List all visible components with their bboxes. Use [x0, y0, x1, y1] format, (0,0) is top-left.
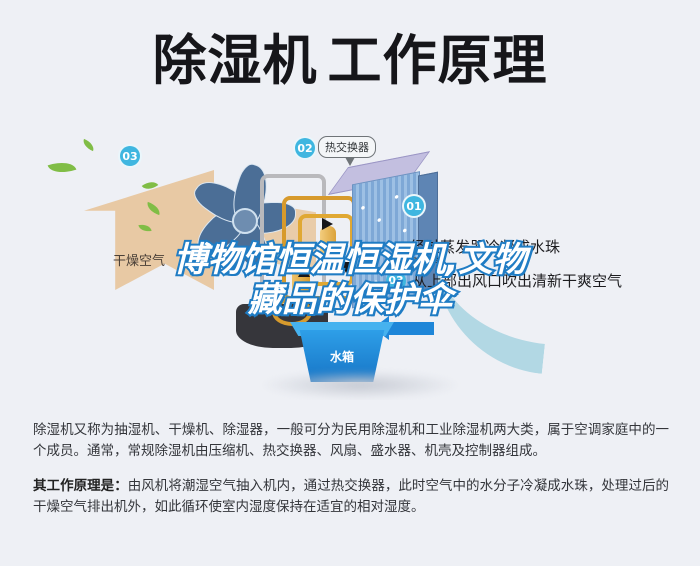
step-badge: 03: [386, 271, 406, 291]
illustration-shadow: [260, 370, 460, 400]
step-list: 02 经过蒸发器冷凝成水珠 03 从上部出风口吹出清新干爽空气: [396, 236, 696, 304]
fan-hub-icon: [232, 208, 258, 234]
page-title-part2: 工作原理: [328, 29, 548, 92]
body-text-block: 除湿机又称为抽湿机、干燥机、除湿器，一般可分为民用除湿机和工业除湿机两大类，属于…: [33, 420, 669, 532]
compressor-coil-assembly-icon: [258, 170, 364, 320]
paragraph-2: 其工作原理是：由风机将潮湿空气抽入机内，通过热交换器，此时空气中的水分子冷凝成水…: [33, 476, 669, 518]
paragraph-2-lead: 其工作原理是：: [33, 478, 128, 494]
leaf-icon: [81, 139, 96, 151]
step-badge-01: 01: [404, 196, 424, 216]
step-item: 02 经过蒸发器冷凝成水珠: [384, 236, 696, 257]
header: 除湿机工作原理: [0, 18, 700, 104]
flow-arrow-right-icon: [322, 218, 333, 230]
step-badge-02: 02: [295, 138, 315, 158]
leaf-icon: [48, 157, 77, 177]
dry-air-label: 干燥空气: [113, 250, 165, 269]
compressor-cylinder-icon: [320, 226, 336, 260]
page-root: 除湿机工作原理: [0, 0, 700, 566]
step-badge-03: 03: [120, 146, 140, 166]
water-tank-label: 水箱: [290, 348, 394, 365]
step-item: 03 从上部出风口吹出清新干爽空气: [386, 270, 696, 291]
paragraph-1: 除湿机又称为抽湿机、干燥机、除湿器，一般可分为民用除湿机和工业除湿机两大类，属于…: [33, 420, 669, 462]
step-text: 从上部出风口吹出清新干爽空气: [412, 270, 622, 291]
flow-arrow-down-icon: [340, 262, 352, 273]
air-inlet-arrow-icon: [388, 322, 434, 335]
page-title-part1: 除湿机: [153, 29, 318, 92]
flow-arrow-up-icon: [298, 266, 310, 277]
page-title: 除湿机工作原理: [153, 34, 548, 88]
paragraph-2-rest: 由风机将潮湿空气抽入机内，通过热交换器，此时空气中的水分子冷凝成水珠，处理过后的…: [33, 478, 669, 515]
heat-exchanger-callout: 热交换器: [318, 136, 376, 158]
step-text: 经过蒸发器冷凝成水珠: [410, 236, 560, 257]
